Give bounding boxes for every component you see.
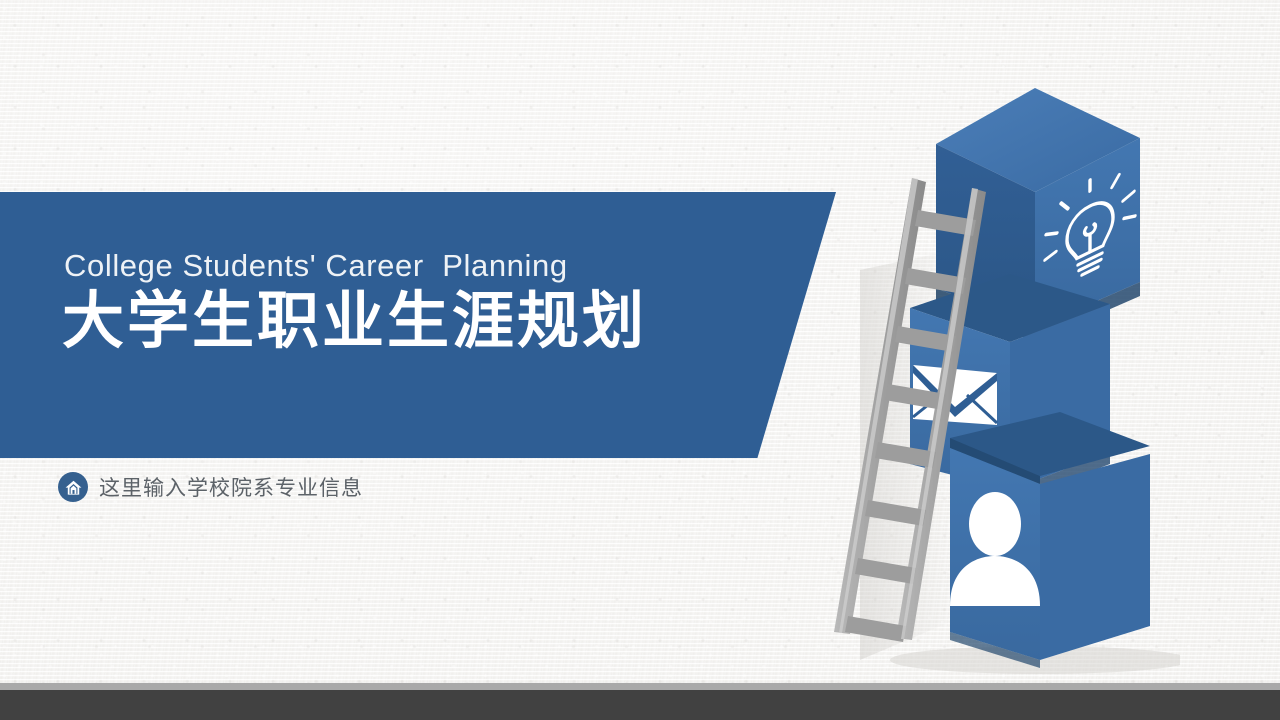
title-banner-content: College Students' Career Planning 大学生职业生… <box>64 192 764 458</box>
page-title: 大学生职业生涯规划 <box>62 289 647 354</box>
cube-bottom-user <box>950 412 1150 668</box>
home-icon <box>58 472 88 502</box>
school-info-text: 这里输入学校院系专业信息 <box>99 472 363 502</box>
subtitle-english: College Students' Career Planning <box>64 248 568 284</box>
cube-bottom-right-face <box>1040 454 1150 660</box>
title-banner: College Students' Career Planning 大学生职业生… <box>0 192 836 458</box>
school-info-line: 这里输入学校院系专业信息 <box>58 472 363 502</box>
footer-strip <box>0 683 1280 690</box>
stacked-cubes-with-ladder-illustration <box>740 60 1180 680</box>
footer-bar <box>0 690 1280 720</box>
presentation-slide: College Students' Career Planning 大学生职业生… <box>0 0 1280 720</box>
